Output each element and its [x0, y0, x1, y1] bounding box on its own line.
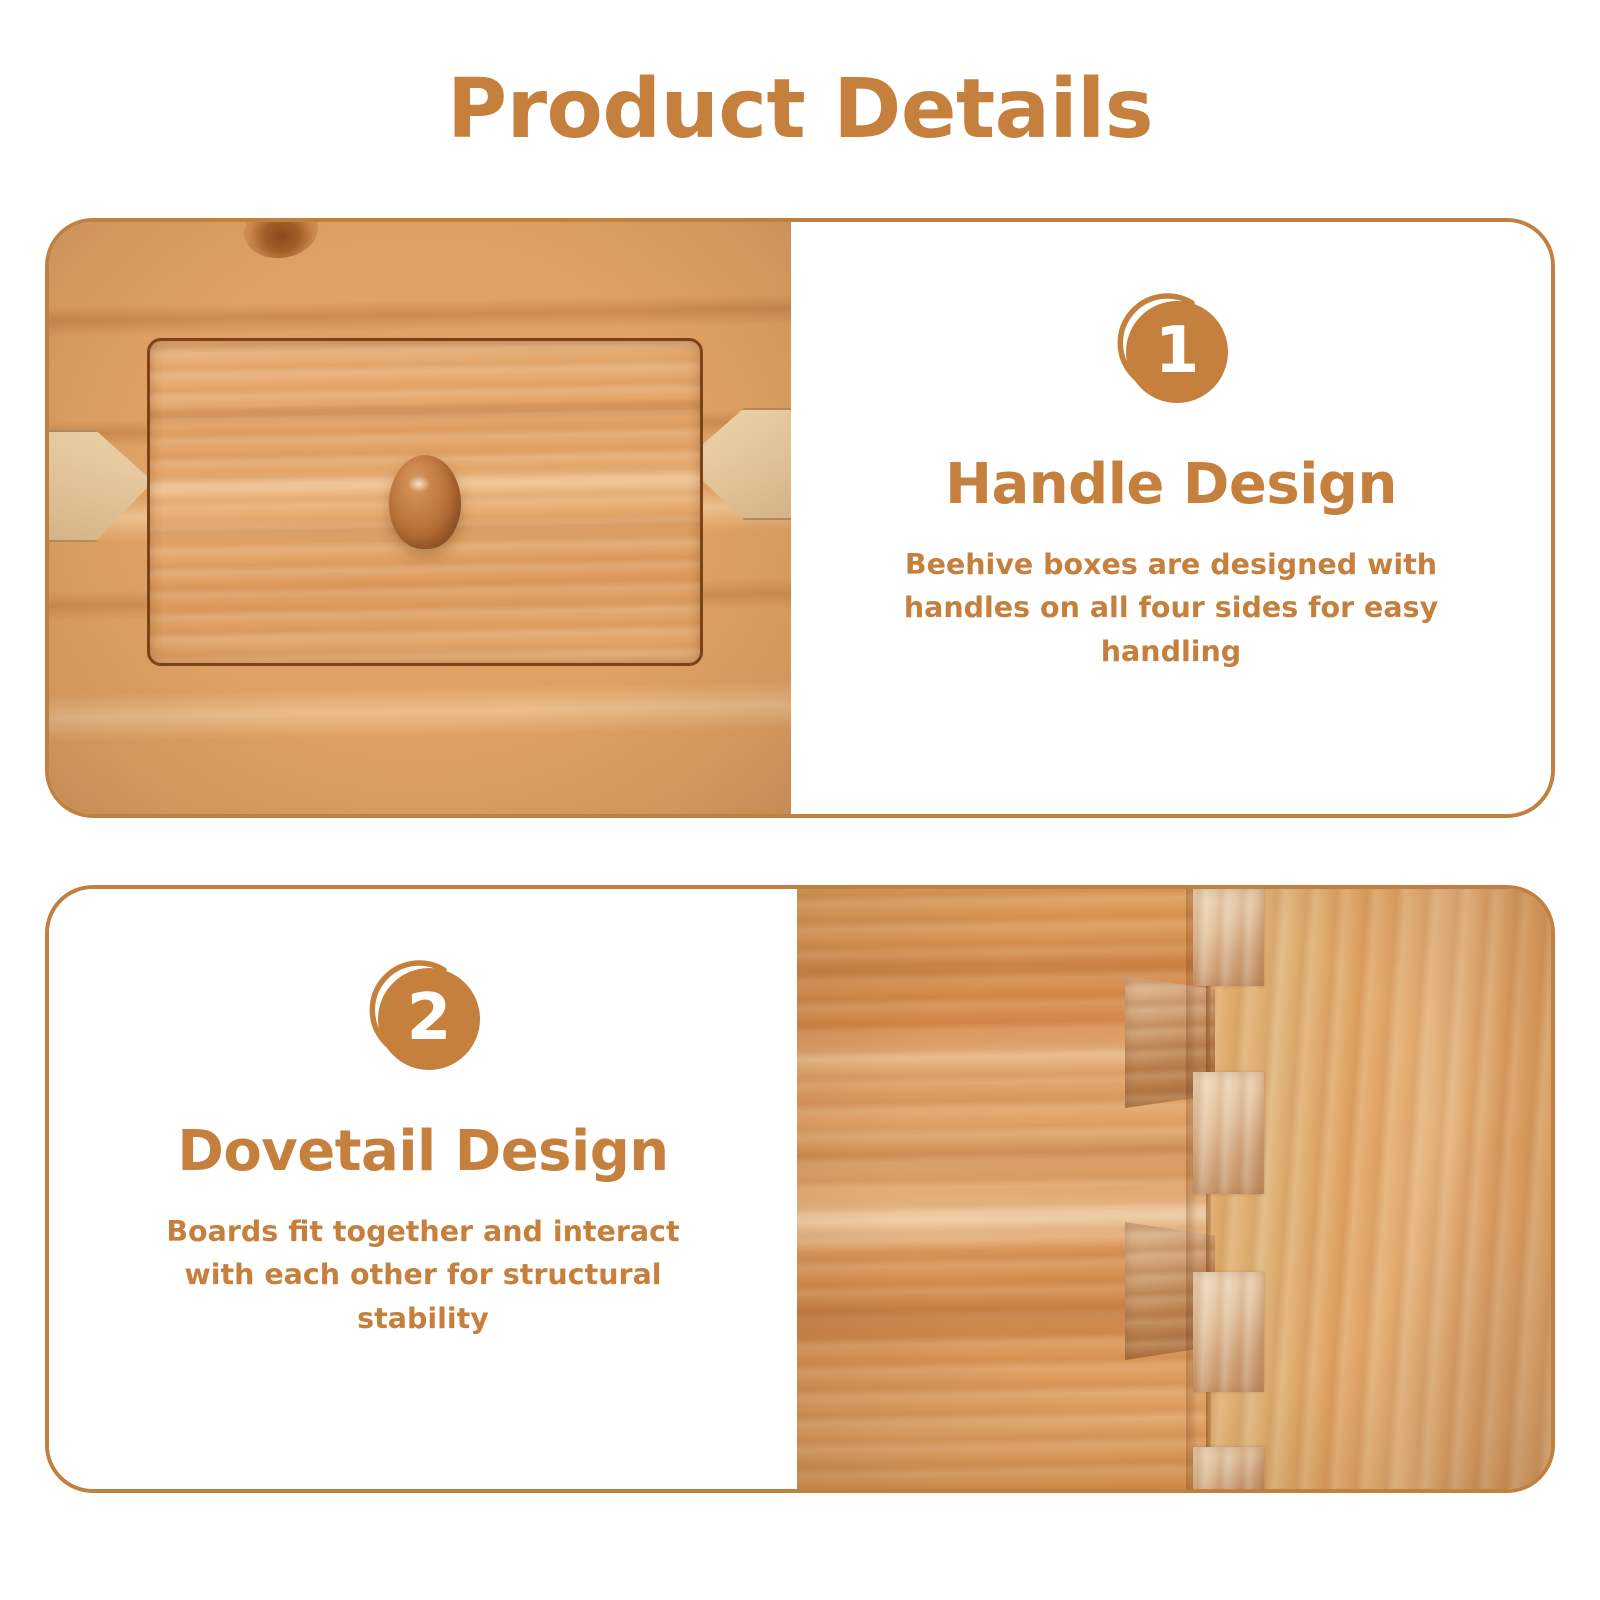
- feature-body-1: Beehive boxes are designed with handles …: [901, 543, 1441, 673]
- dovetail-pin: [1193, 1072, 1265, 1194]
- handle-knob: [389, 455, 461, 549]
- handle-design-text-pane: 1 Handle Design Beehive boxes are design…: [791, 222, 1551, 814]
- dovetail-design-text-pane: 2 Dovetail Design Boards fit together an…: [49, 889, 797, 1489]
- badge-number-label: 1: [1155, 319, 1200, 383]
- feature-body-2: Boards fit together and interact with ea…: [153, 1210, 693, 1340]
- dovetail-pin: [1193, 1272, 1265, 1392]
- product-details-page: Product Details 1: [0, 0, 1600, 1600]
- handle-design-photo: [49, 222, 791, 814]
- feature-number-badge-1: 1: [1096, 284, 1246, 418]
- dovetail-design-photo: [797, 889, 1551, 1489]
- feature-heading-1: Handle Design: [945, 452, 1397, 517]
- feature-card-handle-design: 1 Handle Design Beehive boxes are design…: [45, 218, 1555, 818]
- dovetail-board-left: [797, 889, 1208, 1489]
- badge-circle: 1: [1126, 301, 1228, 403]
- dovetail-joint-illustration: [797, 889, 1551, 1489]
- handle-recess-panel: [147, 338, 703, 666]
- badge-number-label: 2: [407, 986, 452, 1050]
- dovetail-pin: [1193, 889, 1265, 986]
- dovetail-pin: [1193, 1447, 1265, 1489]
- feature-card-dovetail-design: 2 Dovetail Design Boards fit together an…: [45, 885, 1555, 1493]
- badge-circle: 2: [378, 968, 480, 1070]
- feature-heading-2: Dovetail Design: [177, 1119, 668, 1184]
- feature-number-badge-2: 2: [348, 951, 498, 1085]
- page-title: Product Details: [0, 62, 1600, 157]
